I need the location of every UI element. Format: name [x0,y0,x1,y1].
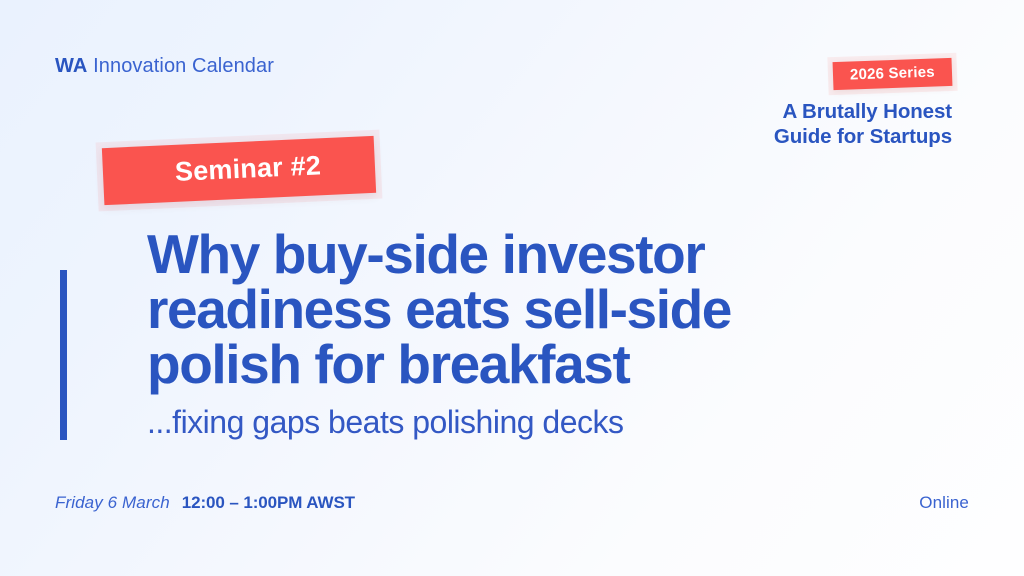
series-title: A Brutally Honest Guide for Startups [632,99,952,149]
headline-line-2: readiness eats sell-side [147,282,947,337]
series-title-line-2: Guide for Startups [774,125,952,148]
seminar-promo-card: WA Innovation Calendar 2026 Series A Bru… [0,0,1024,576]
seminar-number-badge: Seminar #2 [102,136,376,205]
headline-accent-bar [60,270,67,440]
headline-line-3: polish for breakfast [147,337,947,392]
series-block: 2026 Series A Brutally Honest Guide for … [632,60,952,149]
footer: Friday 6 March 12:00 – 1:00PM AWST Onlin… [55,493,969,513]
event-time: 12:00 – 1:00PM AWST [182,493,355,513]
brand-lockup: WA Innovation Calendar [55,55,274,78]
page-subtitle: ...fixing gaps beats polishing decks [147,404,624,441]
event-location: Online [919,493,969,513]
brand-initials: WA [55,55,87,77]
page-title: Why buy-side investor readiness eats sel… [147,227,947,392]
headline-line-1: Why buy-side investor [147,227,947,282]
footer-schedule: Friday 6 March 12:00 – 1:00PM AWST [55,493,355,513]
series-badge: 2026 Series [833,58,953,90]
event-date: Friday 6 March [55,493,170,513]
series-title-line-1: A Brutally Honest [782,100,952,123]
brand-name: Innovation Calendar [93,55,274,77]
